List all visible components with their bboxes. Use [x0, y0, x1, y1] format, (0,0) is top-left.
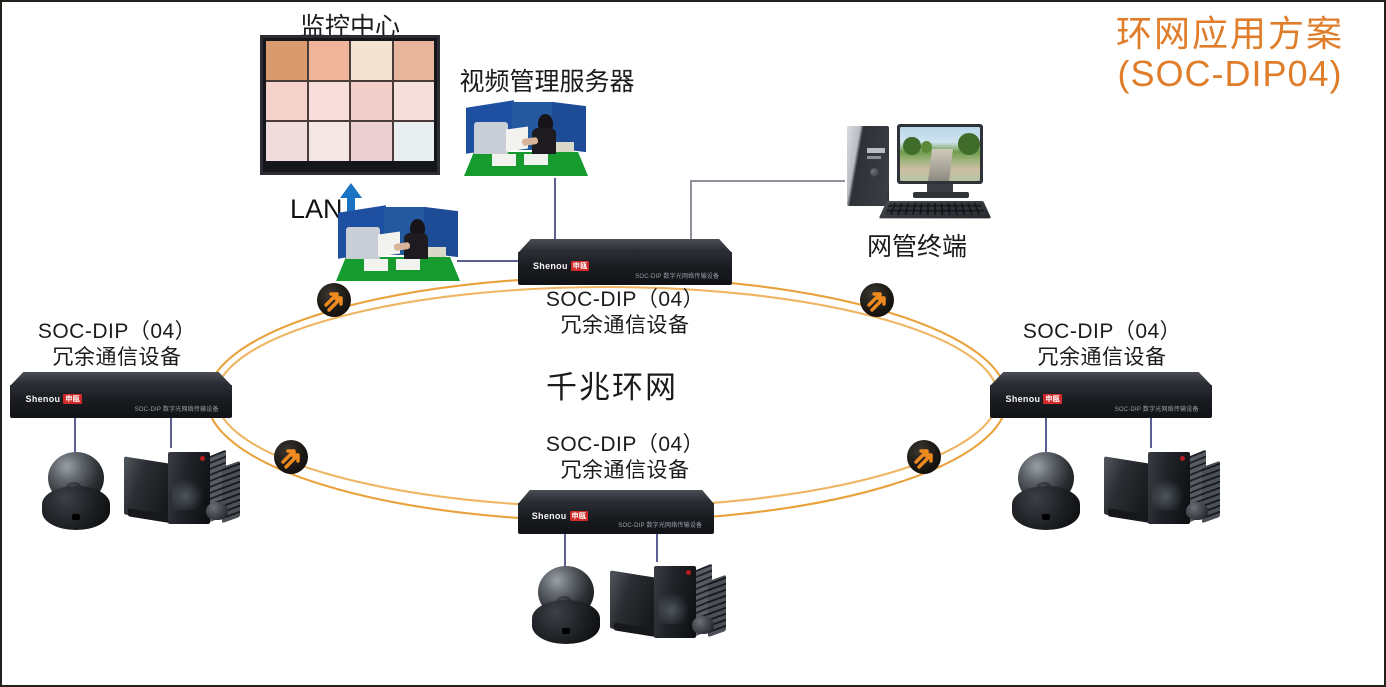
device-bottom-label: SOC-DIP（04） 冗余通信设备 — [505, 432, 745, 485]
double-arrow-icon — [317, 283, 351, 317]
desktop-pc-icon-left — [124, 446, 242, 530]
wire-server-to-switch — [554, 178, 556, 244]
wire-left-device-to-camera — [74, 418, 76, 452]
ring-node-bottom-right[interactable] — [907, 440, 941, 474]
device-left-brand-cn: 申瓯 — [63, 394, 82, 404]
device-top-label-line2: 冗余通信设备 — [505, 313, 745, 339]
dome-camera-icon-right — [1012, 452, 1080, 532]
video-wall-tile-10 — [309, 122, 350, 161]
video-wall — [260, 35, 440, 175]
device-bottom-model-text: SOC-DIP 数字光网络传输设备 — [618, 520, 702, 529]
ring-center-label: 千兆环网 — [507, 362, 717, 407]
video-wall-tile-4 — [394, 41, 435, 80]
device-right-brand-cn: 申瓯 — [1043, 394, 1062, 404]
video-wall-tile-3 — [351, 41, 392, 80]
video-management-server-label: 视频管理服务器 — [442, 62, 652, 98]
device-bottom-brand-cn: 申瓯 — [570, 511, 589, 521]
operator-desk-icon-server — [462, 102, 592, 178]
device-left-label-line2: 冗余通信设备 — [0, 345, 237, 371]
device-left-model-text: SOC-DIP 数字光网络传输设备 — [135, 404, 219, 413]
device-top-model-text: SOC-DIP 数字光网络传输设备 — [635, 271, 719, 280]
video-wall-tile-5 — [266, 82, 307, 121]
device-top-chassis-top — [518, 239, 732, 253]
wire-bottom-device-to-camera — [564, 534, 566, 566]
device-bottom-front-panel: Shenou申瓯 SOC-DIP 数字光网络传输设备 — [518, 503, 714, 534]
video-wall-tile-7 — [351, 82, 392, 121]
video-wall-tile-2 — [309, 41, 350, 80]
video-wall-tile-1 — [266, 41, 307, 80]
wire-switch-to-nm-horizontal — [690, 180, 845, 182]
device-top-label: SOC-DIP（04） 冗余通信设备 — [505, 287, 745, 340]
device-top-front-panel: Shenou申瓯 SOC-DIP 数字光网络传输设备 — [518, 252, 732, 285]
device-top[interactable]: Shenou申瓯 SOC-DIP 数字光网络传输设备 — [518, 239, 732, 285]
double-arrow-icon — [274, 440, 308, 474]
device-right[interactable]: Shenou申瓯 SOC-DIP 数字光网络传输设备 — [990, 372, 1212, 418]
device-bottom-brand: Shenou申瓯 — [532, 511, 588, 521]
device-bottom-label-line1: SOC-DIP（04） — [505, 432, 745, 458]
ring-node-bottom-left[interactable] — [274, 440, 308, 474]
title-line-2: (SOC-DIP04) — [1116, 54, 1344, 94]
device-right-label-line1: SOC-DIP（04） — [977, 319, 1227, 345]
dome-camera-icon-left — [42, 452, 110, 532]
title-line-1: 环网应用方案 — [1116, 14, 1344, 54]
device-right-label-line2: 冗余通信设备 — [977, 345, 1227, 371]
video-wall-grid — [266, 41, 434, 161]
video-wall-tile-9 — [266, 122, 307, 161]
device-left-chassis-top — [10, 372, 232, 386]
device-right-front-panel: Shenou申瓯 SOC-DIP 数字光网络传输设备 — [990, 385, 1212, 418]
wire-right-device-to-pc — [1150, 418, 1152, 448]
device-top-brand: Shenou申瓯 — [533, 261, 589, 271]
device-left-brand: Shenou申瓯 — [26, 394, 82, 404]
video-wall-tile-8 — [394, 82, 435, 121]
ring-node-top-left[interactable] — [317, 283, 351, 317]
network-management-terminal-label: 网管终端 — [847, 227, 987, 263]
device-left[interactable]: Shenou申瓯 SOC-DIP 数字光网络传输设备 — [10, 372, 232, 418]
wire-bottom-device-to-pc — [656, 534, 658, 562]
wire-lan-to-switch — [457, 260, 525, 262]
device-bottom[interactable]: Shenou申瓯 SOC-DIP 数字光网络传输设备 — [518, 490, 714, 534]
device-left-front-panel: Shenou申瓯 SOC-DIP 数字光网络传输设备 — [10, 385, 232, 418]
double-arrow-icon — [907, 440, 941, 474]
dome-camera-icon-bottom — [532, 566, 600, 646]
device-right-label: SOC-DIP（04） 冗余通信设备 — [977, 319, 1227, 372]
device-right-chassis-top — [990, 372, 1212, 386]
desktop-pc-icon-bottom — [610, 560, 728, 644]
diagram-canvas: 环网应用方案 (SOC-DIP04) 监控中心 LAN 视频管理服务器 — [0, 0, 1386, 687]
wire-right-device-to-camera — [1045, 418, 1047, 452]
diagram-title: 环网应用方案 (SOC-DIP04) — [1116, 14, 1344, 95]
desktop-pc-icon-nm-terminal — [847, 122, 987, 227]
ring-node-top-right[interactable] — [860, 283, 894, 317]
video-wall-tile-12 — [394, 122, 435, 161]
device-left-label: SOC-DIP（04） 冗余通信设备 — [0, 319, 237, 372]
wire-left-device-to-pc — [170, 418, 172, 448]
device-left-label-line1: SOC-DIP（04） — [0, 319, 237, 345]
device-right-brand: Shenou申瓯 — [1006, 394, 1062, 404]
video-wall-tile-11 — [351, 122, 392, 161]
operator-desk-icon-lan — [334, 207, 464, 283]
desktop-pc-icon-right — [1104, 446, 1222, 530]
double-arrow-icon — [860, 283, 894, 317]
wire-switch-to-nm-vertical — [690, 180, 692, 244]
device-right-model-text: SOC-DIP 数字光网络传输设备 — [1115, 404, 1199, 413]
device-bottom-label-line2: 冗余通信设备 — [505, 458, 745, 484]
device-bottom-chassis-top — [518, 490, 714, 504]
device-top-label-line1: SOC-DIP（04） — [505, 287, 745, 313]
device-top-brand-cn: 申瓯 — [571, 261, 590, 271]
video-wall-tile-6 — [309, 82, 350, 121]
